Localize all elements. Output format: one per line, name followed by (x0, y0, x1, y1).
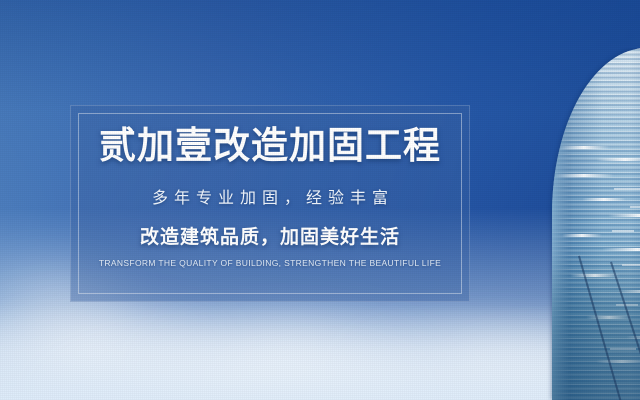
page-title: 贰加壹改造加固工程 (70, 125, 470, 166)
tower-lower-shading (552, 250, 640, 400)
subtitle: 多年专业加固，经验丰富 (70, 184, 470, 208)
glass-highlight-streak (596, 158, 640, 161)
slogan-english: TRANSFORM THE QUALITY OF BUILDING, STREN… (70, 258, 470, 268)
glass-highlight-streak (558, 146, 610, 149)
hero-text-panel: 贰加壹改造加固工程 多年专业加固，经验丰富 改造建筑品质，加固美好生活 TRAN… (70, 105, 470, 302)
glass-highlight-streak (608, 214, 640, 217)
glass-highlight-streak (582, 198, 626, 201)
glass-highlight-streak (562, 234, 602, 237)
panel-content: 贰加壹改造加固工程 多年专业加固，经验丰富 改造建筑品质，加固美好生活 TRAN… (70, 125, 470, 268)
tower-body (552, 48, 640, 400)
skyscraper-building (544, 48, 640, 400)
glass-highlight-streak (554, 174, 614, 177)
slogan: 改造建筑品质，加固美好生活 (70, 222, 470, 249)
window-light (614, 188, 640, 190)
banner-image: 贰加壹改造加固工程 多年专业加固，经验丰富 改造建筑品质，加固美好生活 TRAN… (0, 0, 640, 400)
window-light (612, 230, 634, 232)
window-light (630, 206, 640, 208)
